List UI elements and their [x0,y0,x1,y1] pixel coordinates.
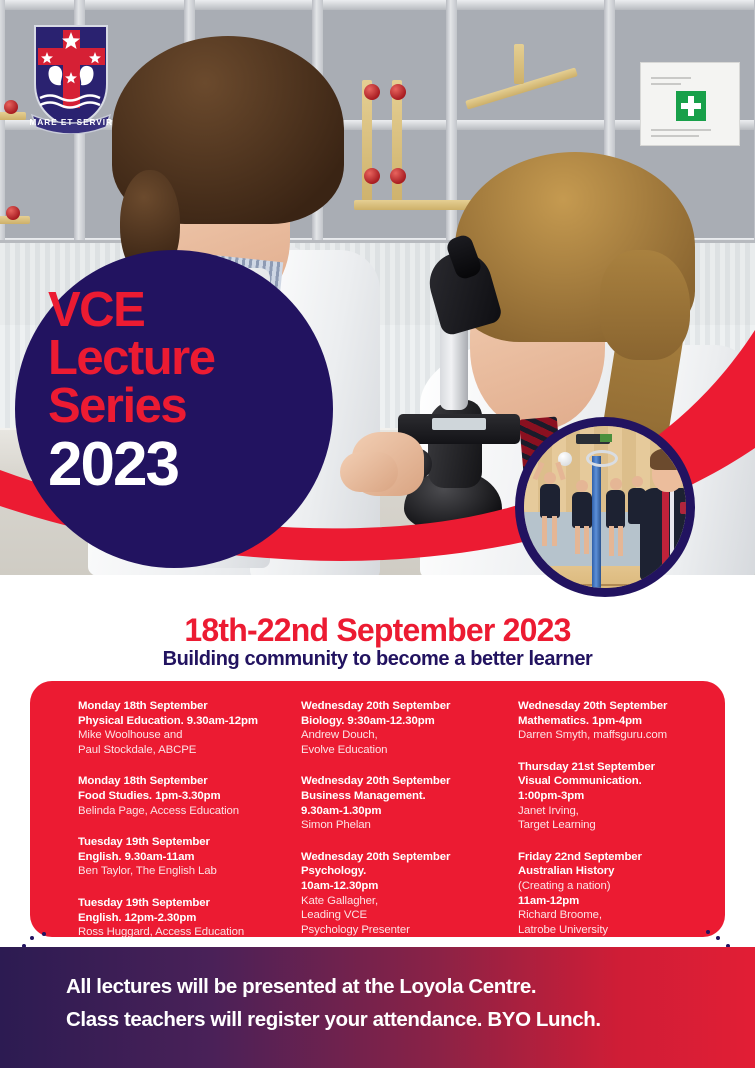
schedule-item-presenter: Leading VCE [301,908,508,923]
schedule-item-presenter: Latrobe University [518,923,725,938]
schedule-column: Monday 18th SeptemberPhysical Education.… [30,699,285,937]
schedule-item-presenter: Psychology Presenter [301,923,508,938]
school-crest-logo: AMARE ET SERVIRE [30,22,112,134]
title-circle: VCE Lecture Series 2023 [15,250,333,568]
schedule-item-date: Tuesday 19th September [78,835,285,850]
schedule-item-subject: Australian History [518,864,725,879]
schedule-column: Wednesday 20th SeptemberBiology. 9:30am-… [285,699,508,937]
schedule-item-date: Wednesday 20th September [518,699,725,714]
schedule-item-presenter: Mike Woolhouse and [78,728,285,743]
schedule-item-date: Wednesday 20th September [301,774,508,789]
schedule-item: Wednesday 20th SeptemberPsychology.10am-… [301,850,508,938]
schedule-item: Tuesday 19th SeptemberEnglish. 9.30am-11… [78,835,285,879]
title-line-3: Series [48,382,333,430]
schedule-item-presenter: Janet Irving, [518,804,725,819]
schedule-item-subject: Business Management. [301,789,508,804]
schedule-item-date: Friday 22nd September [518,850,725,865]
schedule-item: Monday 18th SeptemberPhysical Education.… [78,699,285,757]
schedule-item-presenter: Paul Stockdale, ABCPE [78,743,285,758]
schedule-item: Monday 18th SeptemberFood Studies. 1pm-3… [78,774,285,818]
schedule-item-presenter: Belinda Page, Access Education [78,804,285,819]
schedule-item-date: Wednesday 20th September [301,699,508,714]
schedule-item-presenter: Evolve Education [301,743,508,758]
schedule-item-subject: English. 12pm-2.30pm [78,911,285,926]
schedule-item-presenter: Andrew Douch, [301,728,508,743]
schedule-item-date: Monday 18th September [78,774,285,789]
netball-photo [524,426,686,588]
schedule-item-presenter: Ben Taylor, The English Lab [78,864,285,879]
schedule-item-presenter: Ross Huggard, Access Education [78,925,285,940]
schedule-item-presenter: Richard Broome, [518,908,725,923]
schedule-item-date: Monday 18th September [78,699,285,714]
schedule-item-date: Wednesday 20th September [301,850,508,865]
schedule-item-presenter: Simon Phelan [301,818,508,833]
schedule-item-presenter: Target Learning [518,818,725,833]
schedule-item-presenter: Darren Smyth, maffsguru.com [518,728,725,743]
date-heading: 18th-22nd September 2023 [0,612,755,649]
first-aid-sign [640,62,740,146]
schedule-item-date: Tuesday 19th September [78,896,285,911]
footer-line-2: Class teachers will register your attend… [66,1008,601,1032]
schedule-item-time: 9.30am-1.30pm [301,804,508,819]
schedule-box: Monday 18th SeptemberPhysical Education.… [30,681,725,937]
schedule-item: Wednesday 20th SeptemberBiology. 9:30am-… [301,699,508,757]
schedule-item-time: 10am-12.30pm [301,879,508,894]
schedule-item-subject: Food Studies. 1pm-3.30pm [78,789,285,804]
schedule-item: Wednesday 20th SeptemberBusiness Managem… [301,774,508,832]
crest-motto: AMARE ET SERVIRE [30,118,112,127]
title-line-1: VCE [48,286,333,334]
schedule-item: Thursday 21st SeptemberVisual Communicat… [518,760,725,833]
schedule-item-subject: Visual Communication. [518,774,725,789]
schedule-item-subject: Psychology. [301,864,508,879]
schedule-item: Friday 22nd SeptemberAustralian History(… [518,850,725,938]
schedule-item-time: 1:00pm-3pm [518,789,725,804]
schedule-item-subject: Physical Education. 9.30am-12pm [78,714,285,729]
netball-photo-circle [515,417,695,597]
schedule-item: Wednesday 20th SeptemberMathematics. 1pm… [518,699,725,743]
schedule-item-note: (Creating a nation) [518,879,725,894]
vce-lecture-series-poster: VCE Lecture Series 2023 [0,0,755,1068]
schedule-item: Tuesday 19th SeptemberEnglish. 12pm-2.30… [78,896,285,940]
schedule-item-time: 11am-12pm [518,894,725,909]
schedule-column: Wednesday 20th SeptemberMathematics. 1pm… [508,699,725,937]
schedule-item-date: Thursday 21st September [518,760,725,775]
title-year: 2023 [48,434,333,496]
schedule-item-subject: Biology. 9:30am-12.30pm [301,714,508,729]
schedule-item-presenter: Kate Gallagher, [301,894,508,909]
footer-line-1: All lectures will be presented at the Lo… [66,975,536,999]
schedule-item-subject: English. 9.30am-11am [78,850,285,865]
title-line-2: Lecture [48,334,333,382]
schedule-item-subject: Mathematics. 1pm-4pm [518,714,725,729]
sub-heading: Building community to become a better le… [0,648,755,671]
